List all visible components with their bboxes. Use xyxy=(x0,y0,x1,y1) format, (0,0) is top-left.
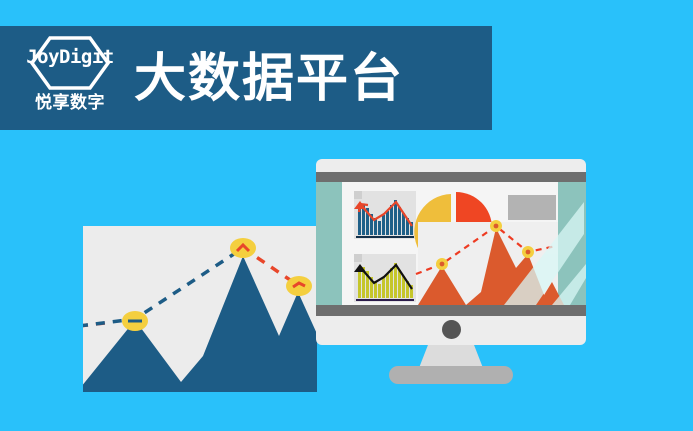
left-mountain-panel xyxy=(83,226,317,392)
monitor-stand-neck xyxy=(419,345,483,368)
banner-canvas: JoyDigit 悦享数字 大数据平台 xyxy=(0,0,693,431)
mountain-line-chart xyxy=(83,226,317,392)
olive-bar-line-card xyxy=(354,254,416,302)
left-accent-band xyxy=(316,182,342,305)
brand-logo: JoyDigit 悦享数字 xyxy=(14,34,126,122)
monitor-bottom-bar xyxy=(316,305,586,316)
monitor-stand-base xyxy=(389,366,513,384)
mountain-silhouette xyxy=(83,256,317,392)
dashboard-graphic xyxy=(316,182,586,305)
monitor-top-bar xyxy=(316,172,586,182)
data-point-marker xyxy=(286,276,312,296)
logo-subtitle: 悦享数字 xyxy=(14,94,126,111)
data-point-marker xyxy=(230,238,256,258)
desktop-monitor xyxy=(316,159,586,345)
monitor-screen xyxy=(316,182,586,305)
logo-wordmark: JoyDigit xyxy=(14,48,126,67)
trend-dash-blue xyxy=(83,248,243,326)
monitor-camera-dot xyxy=(442,320,461,339)
blue-bar-line-card xyxy=(354,191,416,239)
page-title: 大数据平台 xyxy=(134,48,404,110)
